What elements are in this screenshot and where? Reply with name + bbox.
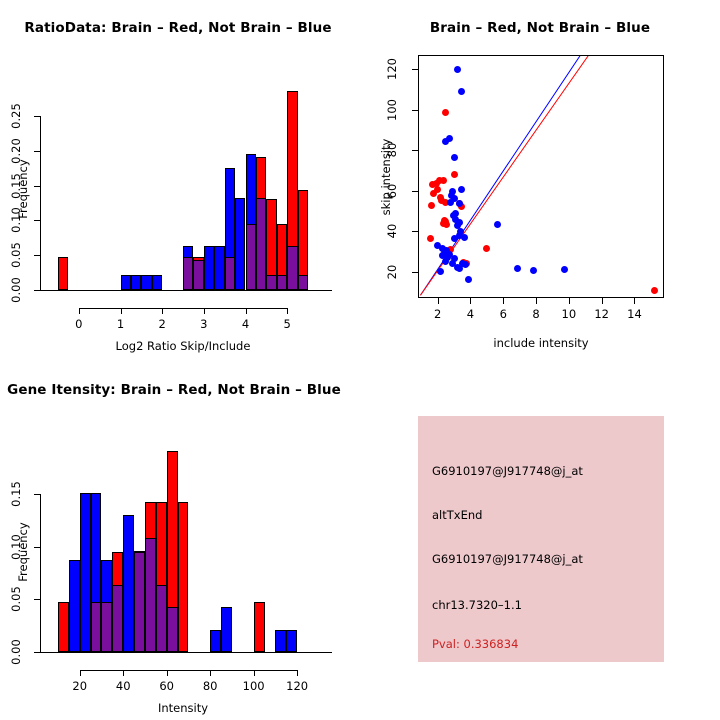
histogram-bar	[178, 502, 189, 652]
x-axis-label: Intensity	[73, 701, 293, 715]
y-axis-tick	[412, 191, 418, 192]
histogram-bar	[80, 493, 91, 652]
x-axis-tick-label: 80	[190, 679, 230, 693]
x-axis-baseline	[36, 290, 332, 291]
scatter-point	[442, 138, 449, 145]
pvalue-text: Pval: 0.336834	[432, 637, 518, 651]
scatter-point	[451, 235, 458, 242]
y-axis-tick	[412, 110, 418, 111]
scatter-point	[437, 268, 444, 275]
scatter-point	[428, 202, 435, 209]
x-axis-tick-label: 4	[226, 317, 266, 331]
scatter-point	[530, 267, 537, 274]
scatter-point	[443, 221, 450, 228]
histogram-bar	[221, 607, 232, 652]
panel-info: G6910197@J917748@j_ataltTxEndG6910197@J9…	[360, 360, 720, 720]
x-axis-tick	[162, 308, 163, 314]
panel-scatter: Brain – Red, Not Brain – Blue20406080100…	[360, 0, 720, 360]
y-axis-tick-label: 0.00	[9, 272, 23, 308]
x-axis-tick-label: 60	[147, 679, 187, 693]
y-axis-tick	[412, 272, 418, 273]
histogram-bar	[254, 602, 265, 652]
x-axis-tick	[210, 670, 211, 676]
info-line: chr13.7320–1.1	[432, 598, 522, 612]
histogram-bar-overlap	[287, 246, 297, 290]
x-axis-tick-label: 100	[234, 679, 274, 693]
panel-ratio-histogram: RatioData: Brain – Red, Not Brain – Blue…	[0, 0, 360, 360]
scatter-point	[465, 276, 472, 283]
x-axis-line	[79, 308, 287, 309]
x-axis-tick	[167, 670, 168, 676]
scatter-point	[458, 88, 465, 95]
y-axis-label: skip intensity	[378, 117, 394, 237]
histogram-bar	[141, 275, 151, 290]
histogram-bar	[204, 246, 214, 290]
x-axis-tick	[123, 670, 124, 676]
histogram-bar-overlap	[277, 275, 287, 290]
x-axis-tick-label: 3	[184, 317, 224, 331]
x-axis-tick	[503, 298, 504, 304]
histogram-bar	[69, 560, 80, 652]
x-axis-tick-label: 5	[267, 317, 307, 331]
x-axis-tick	[634, 298, 635, 304]
x-axis-label: Log2 Ratio Skip/Include	[73, 339, 293, 353]
scatter-point	[430, 190, 437, 197]
histogram-bar	[58, 257, 68, 290]
scatter-point	[456, 265, 463, 272]
y-axis-tick	[34, 116, 40, 117]
scatter-point	[440, 177, 447, 184]
y-axis-label: Frequency	[15, 129, 31, 249]
scatter-point	[451, 154, 458, 161]
y-axis-tick	[34, 186, 40, 187]
scatter-point	[427, 235, 434, 242]
info-line: altTxEnd	[432, 508, 482, 522]
y-axis-line	[40, 116, 41, 291]
x-axis-label: include intensity	[431, 336, 651, 350]
histogram-bar-overlap	[193, 260, 203, 290]
scatter-point	[651, 287, 658, 294]
scatter-point	[447, 199, 454, 206]
scatter-point	[454, 66, 461, 73]
x-axis-tick	[470, 298, 471, 304]
x-axis-tick-label: 120	[277, 679, 317, 693]
x-axis-tick	[602, 298, 603, 304]
scatter-point	[462, 261, 469, 268]
info-line: G6910197@J917748@j_at	[432, 552, 583, 566]
histogram-bar	[123, 515, 134, 652]
x-axis-tick-label: 20	[60, 679, 100, 693]
x-axis-tick-label: 1	[101, 317, 141, 331]
y-axis-tick	[34, 151, 40, 152]
histogram-bar-overlap	[101, 602, 112, 652]
histogram-bar-overlap	[134, 552, 145, 652]
y-axis-tick-label: 0.00	[9, 634, 23, 670]
x-axis-tick	[536, 298, 537, 304]
histogram-bar	[286, 630, 297, 652]
y-axis-tick-label: 20	[385, 254, 399, 290]
y-axis-tick	[34, 494, 40, 495]
y-axis-tick	[412, 231, 418, 232]
x-axis-tick	[79, 308, 80, 314]
y-axis-tick-label: 120	[385, 51, 399, 87]
y-axis-tick	[34, 220, 40, 221]
scatter-point	[561, 266, 568, 273]
y-axis-tick	[34, 547, 40, 548]
y-axis-line	[40, 494, 41, 653]
x-axis-tick-label: 40	[103, 679, 143, 693]
x-axis-tick	[254, 670, 255, 676]
x-axis-tick	[297, 670, 298, 676]
x-axis-tick	[569, 298, 570, 304]
scatter-point	[451, 171, 458, 178]
histogram-bar	[214, 246, 224, 290]
histogram-bar	[152, 275, 162, 290]
histogram-bar	[210, 630, 221, 652]
y-axis-tick	[34, 255, 40, 256]
scatter-point	[458, 186, 465, 193]
scatter-point	[514, 265, 521, 272]
x-axis-tick	[246, 308, 247, 314]
histogram-bar-overlap	[91, 602, 102, 652]
y-axis-tick	[412, 69, 418, 70]
histogram-bar-overlap	[246, 224, 256, 290]
x-axis-tick	[121, 308, 122, 314]
histogram-bar-overlap	[225, 257, 235, 290]
x-axis-line	[80, 670, 297, 671]
x-axis-tick-label: 0	[59, 317, 99, 331]
histogram-bar-overlap	[183, 257, 193, 290]
histogram-bar	[235, 198, 245, 290]
x-axis-tick	[80, 670, 81, 676]
histogram-bar-overlap	[298, 275, 308, 290]
histogram-bar-overlap	[112, 585, 123, 652]
y-axis-label: Frequency	[15, 492, 31, 612]
scatter-title: Brain – Red, Not Brain – Blue	[240, 20, 720, 36]
panel-gene-histogram: Gene Itensity: Brain – Red, Not Brain – …	[0, 360, 360, 720]
info-line: G6910197@J917748@j_at	[432, 464, 583, 478]
histogram-bar-overlap	[145, 538, 156, 652]
figure-canvas: RatioData: Brain – Red, Not Brain – Blue…	[0, 0, 720, 720]
scatter-point	[442, 258, 449, 265]
histogram-bar-overlap	[266, 275, 276, 290]
histogram-bar	[58, 602, 69, 652]
histogram-bar	[121, 275, 131, 290]
histogram-bar	[275, 630, 286, 652]
scatter-plot-area	[419, 56, 663, 297]
info-panel	[418, 416, 664, 662]
x-axis-tick	[204, 308, 205, 314]
x-axis-tick-label: 14	[614, 307, 654, 321]
x-axis-tick	[287, 308, 288, 314]
histogram-bar	[131, 275, 141, 290]
y-axis-tick	[412, 150, 418, 151]
x-axis-baseline	[36, 652, 332, 653]
scatter-point	[442, 109, 449, 116]
scatter-point	[483, 245, 490, 252]
histogram-bar-overlap	[156, 585, 167, 652]
x-axis-tick-label: 2	[142, 317, 182, 331]
x-axis-tick	[438, 298, 439, 304]
histogram-bar-overlap	[256, 198, 266, 290]
scatter-point	[461, 234, 468, 241]
histogram-bar-overlap	[167, 607, 178, 652]
y-axis-tick	[34, 599, 40, 600]
scatter-point	[494, 221, 501, 228]
